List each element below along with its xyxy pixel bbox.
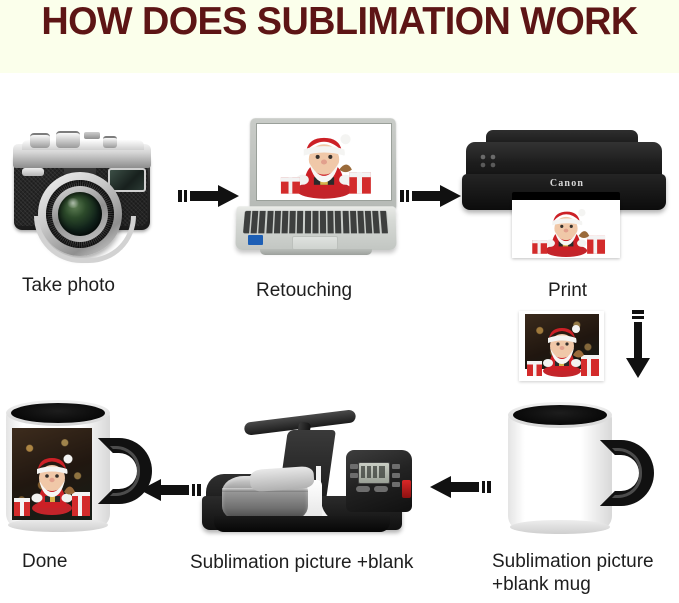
step-label-retouching: Retouching — [256, 279, 436, 302]
arrow-right-icon-1 — [178, 183, 240, 209]
laptop-screen-artwork — [256, 123, 392, 201]
printer-brand-logo: Canon — [540, 178, 594, 190]
heat-press-icon — [196, 404, 418, 544]
step-label-print: Print — [548, 279, 668, 302]
camera-icon — [8, 120, 158, 250]
power-switch[interactable] — [402, 480, 411, 498]
step-label-blank-mug: Sublimation picture +blank mug — [492, 550, 679, 596]
step-label-take-photo: Take photo — [22, 274, 182, 297]
printed-paper — [512, 200, 620, 258]
arrow-left-icon-1 — [430, 474, 492, 500]
mug-printed-artwork — [12, 428, 92, 520]
sublimation-transfer-picture — [519, 311, 604, 381]
infographic-canvas: HOW DOES SUBLIMATION WORK Take photo — [0, 0, 679, 603]
laptop-icon — [232, 118, 398, 258]
page-title: HOW DOES SUBLIMATION WORK — [10, 0, 669, 46]
step-label-done: Done — [22, 550, 162, 573]
arrow-right-icon-2 — [400, 183, 462, 209]
finished-mug-icon — [6, 400, 156, 534]
arrow-down-icon — [624, 310, 652, 380]
blank-mug-icon — [508, 402, 658, 536]
printer-icon: Canon — [462, 130, 674, 260]
step-label-sublimation-blank: Sublimation picture +blank — [190, 551, 460, 574]
